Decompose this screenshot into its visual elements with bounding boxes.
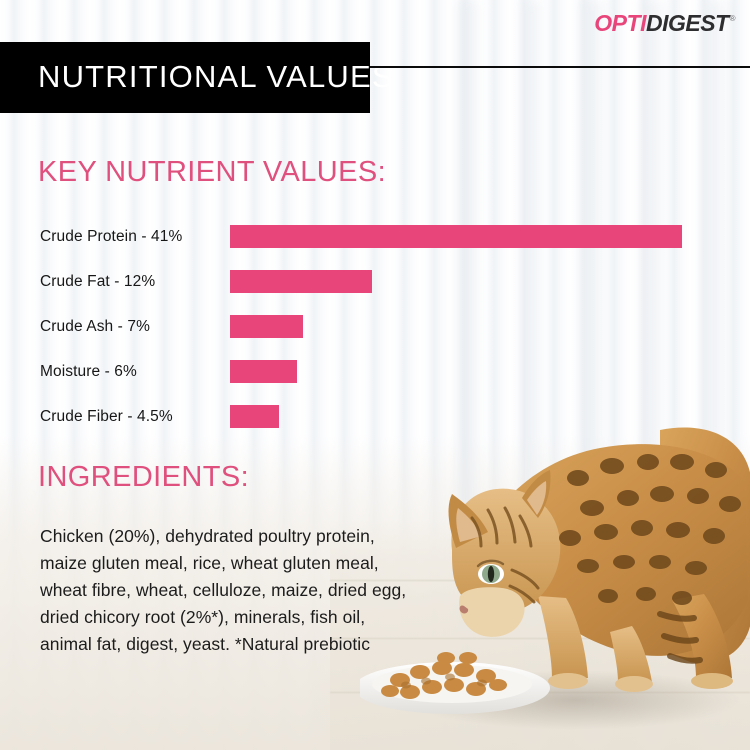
brand-logo: OPTIDIGEST® xyxy=(594,12,734,35)
chart-label: Moisture - 6% xyxy=(40,361,137,383)
nutrient-bar-chart: Crude Protein - 41% Crude Fat - 12% Crud… xyxy=(0,215,750,435)
chart-bar xyxy=(230,360,297,383)
chart-row: Moisture - 6% xyxy=(0,360,750,388)
chart-row: Crude Protein - 41% xyxy=(0,225,750,253)
ingredients-text: Chicken (20%), dehydrated poultry protei… xyxy=(40,523,420,658)
registered-trademark-icon: ® xyxy=(730,15,735,23)
ingredients-section-heading: INGREDIENTS: xyxy=(38,463,249,492)
logo-opti-text: OPTI xyxy=(594,12,646,35)
chart-label: Crude Protein - 41% xyxy=(40,226,182,248)
chart-bar xyxy=(230,270,372,293)
chart-row: Crude Ash - 7% xyxy=(0,315,750,343)
chart-label: Crude Fiber - 4.5% xyxy=(40,406,173,428)
chart-bar xyxy=(230,315,303,338)
chart-row: Crude Fiber - 4.5% xyxy=(0,405,750,433)
chart-bar xyxy=(230,405,279,428)
chart-label: Crude Fat - 12% xyxy=(40,271,155,293)
header-divider xyxy=(370,66,750,68)
logo-digest-text: DIGEST xyxy=(646,12,729,35)
page-title: NUTRITIONAL VALUES xyxy=(38,55,394,99)
chart-bar xyxy=(230,225,682,248)
chart-label: Crude Ash - 7% xyxy=(40,316,150,338)
infographic-page: OPTIDIGEST® NUTRITIONAL VALUES KEY NUTRI… xyxy=(0,0,750,750)
nutrient-section-heading: KEY NUTRIENT VALUES: xyxy=(38,158,386,187)
chart-row: Crude Fat - 12% xyxy=(0,270,750,298)
